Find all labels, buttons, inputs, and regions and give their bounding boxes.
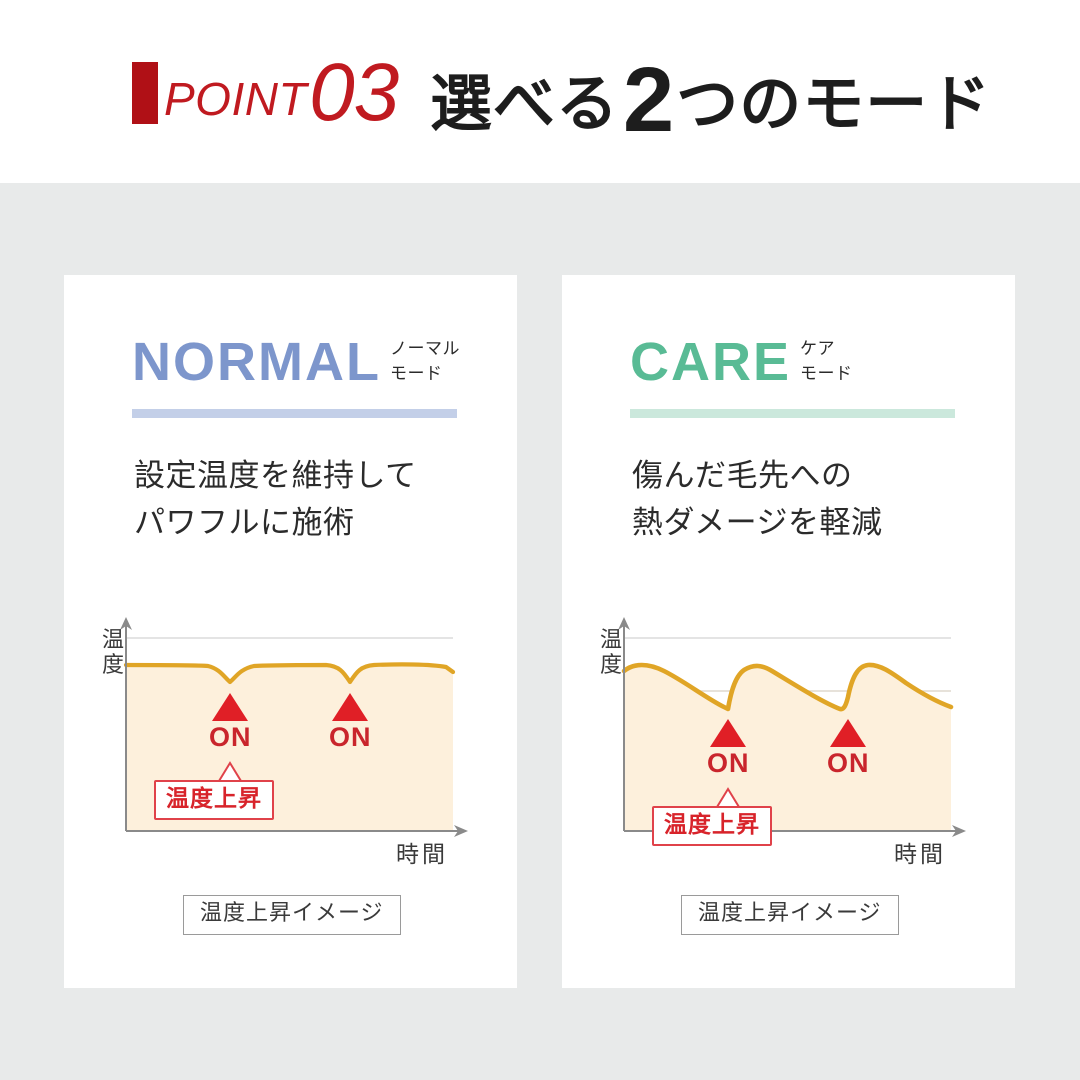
headline-number: 2 xyxy=(623,54,674,146)
mode-name-en: CARE xyxy=(630,335,791,389)
chart-caption: 温度上昇イメージ xyxy=(183,895,401,935)
chart-svg xyxy=(78,593,503,873)
mode-card-care: CARE ケア モード 傷んだ毛先への 熱ダメージを軽減 温度 時間 xyxy=(562,275,1015,988)
chart-annotation-callout: 温度上昇 xyxy=(154,780,274,820)
temperature-chart-normal: 温度 時間 xyxy=(78,593,503,873)
mode-name-jp-line2: モード xyxy=(800,364,853,384)
mode-card-normal: NORMAL ノーマル モード 設定温度を維持して パワフルに施術 温度 時間 xyxy=(64,275,517,988)
mode-name-jp: ノーマル モード xyxy=(390,337,460,386)
mode-underline-rule xyxy=(630,409,955,418)
mode-underline-rule xyxy=(132,409,457,418)
page-root: POINT 03 選べる 2 つのモード NORMAL ノーマル モード 設定温… xyxy=(0,0,1080,1080)
point-badge: POINT 03 xyxy=(132,52,398,134)
on-label-2: ON xyxy=(827,748,870,779)
x-axis-label: 時間 xyxy=(396,835,448,869)
on-label-1: ON xyxy=(707,748,750,779)
mode-heading-normal: NORMAL ノーマル モード xyxy=(132,335,460,389)
mode-description: 傷んだ毛先への 熱ダメージを軽減 xyxy=(632,453,882,547)
mode-name-jp-line2: モード xyxy=(390,364,443,384)
mode-name-jp-line1: ケア xyxy=(800,339,835,359)
headline-suffix: つのモード xyxy=(676,73,991,135)
y-axis-label: 温度 xyxy=(596,629,626,678)
chart-annotation-callout: 温度上昇 xyxy=(652,806,772,846)
page-title: 選べる 2 つのモード xyxy=(430,48,991,140)
point-label: POINT xyxy=(164,76,307,122)
point-bar-icon xyxy=(132,62,158,124)
chart-svg xyxy=(576,593,1001,873)
mode-name-en: NORMAL xyxy=(132,335,381,389)
mode-name-jp-line1: ノーマル xyxy=(390,339,460,359)
on-label-2: ON xyxy=(329,722,372,753)
x-axis-label: 時間 xyxy=(894,835,946,869)
header-band: POINT 03 選べる 2 つのモード xyxy=(0,0,1080,183)
y-axis-label: 温度 xyxy=(98,629,128,678)
mode-heading-care: CARE ケア モード xyxy=(630,335,853,389)
temperature-chart-care: 温度 時間 xyxy=(576,593,1001,873)
mode-description: 設定温度を維持して パワフルに施術 xyxy=(134,453,417,547)
chart-caption: 温度上昇イメージ xyxy=(681,895,899,935)
mode-name-jp: ケア モード xyxy=(800,337,853,386)
headline-prefix: 選べる xyxy=(430,73,619,135)
on-label-1: ON xyxy=(209,722,252,753)
point-number: 03 xyxy=(309,52,398,134)
